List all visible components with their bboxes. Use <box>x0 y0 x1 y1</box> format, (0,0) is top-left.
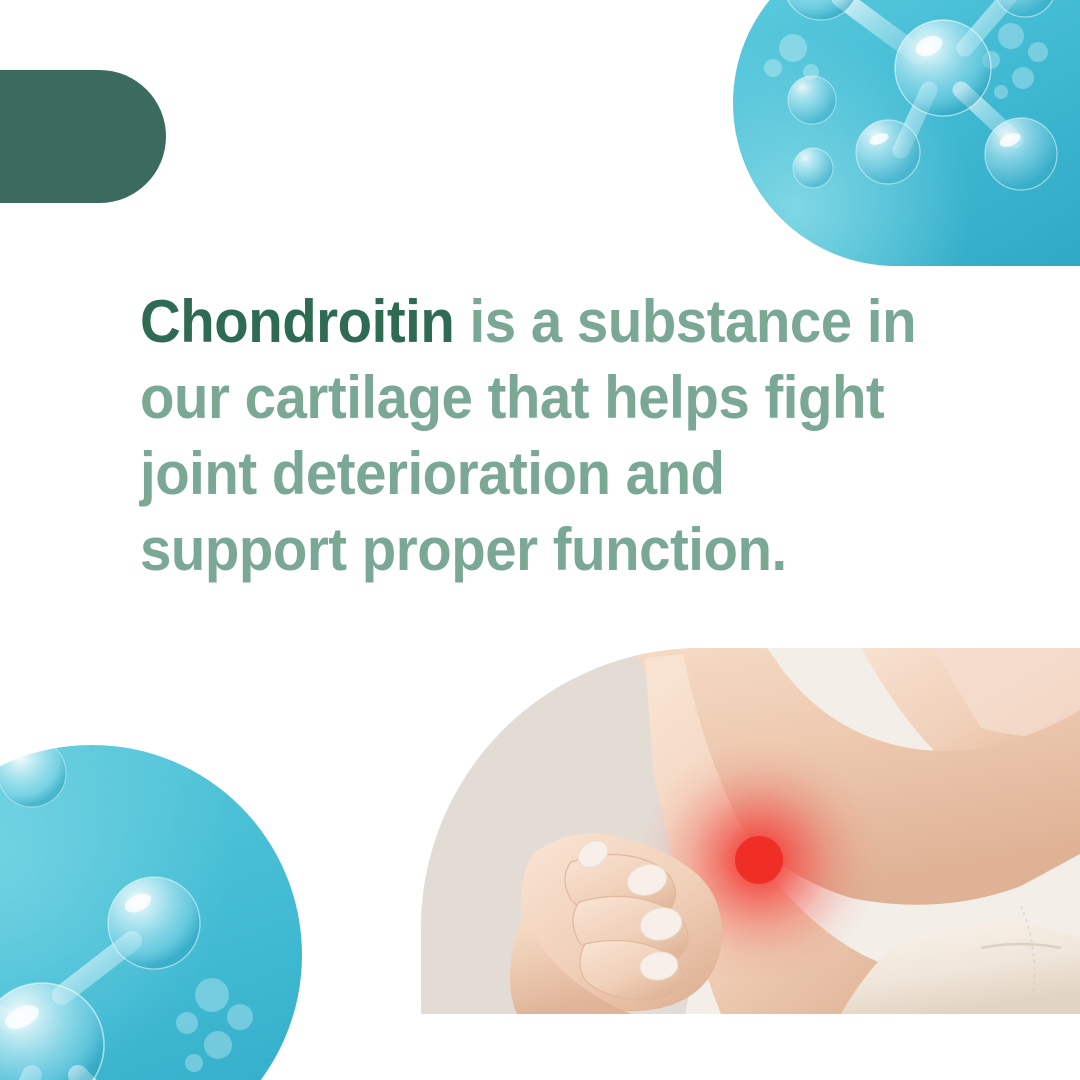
headline-term: Chondroitin <box>140 288 454 355</box>
elbow-pain-illustration-icon <box>421 648 1080 1014</box>
green-pill-decoration <box>0 70 166 203</box>
poster-canvas: Chondroitin is a substance in our cartil… <box>0 0 1080 1080</box>
molecule-illustration-icon <box>733 0 1080 266</box>
molecule-illustration-icon <box>0 745 302 1080</box>
headline-text: Chondroitin is a substance in our cartil… <box>140 284 920 588</box>
joint-pain-photo <box>421 648 1080 1014</box>
molecule-photo-top-right <box>733 0 1080 266</box>
molecule-photo-bottom-left <box>0 745 302 1080</box>
